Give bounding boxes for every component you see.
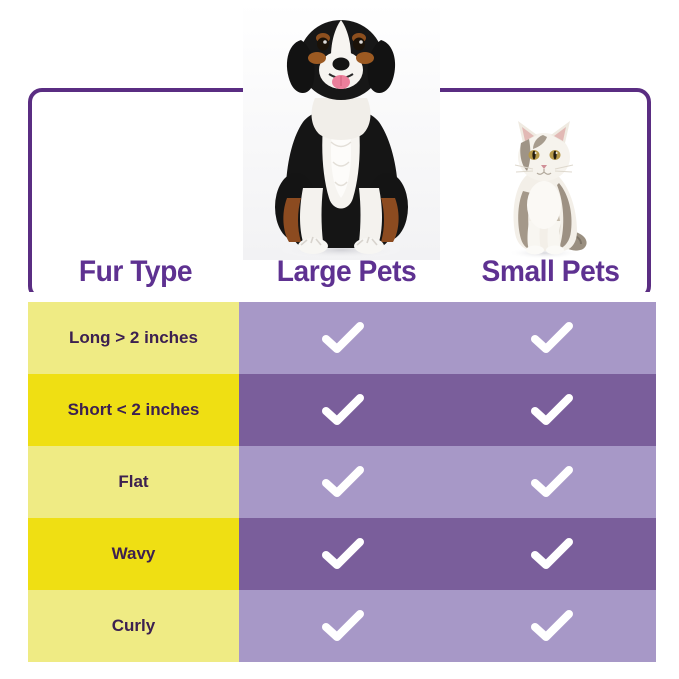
table-row: Wavy: [28, 518, 656, 590]
checkmark-icon: [530, 465, 574, 499]
checkmark-icon: [321, 393, 365, 427]
table-header-row: Fur Type Large Pets Small Pets: [32, 246, 647, 298]
table-row: Long > 2 inches: [28, 302, 656, 374]
cell-long-small-pets: [448, 302, 657, 374]
cell-flat-small-pets: [448, 446, 657, 518]
comparison-table-body: Long > 2 inches Short < 2 inches: [28, 302, 656, 662]
row-label-flat: Flat: [28, 446, 239, 518]
checkmark-icon: [530, 609, 574, 643]
checkmark-icon: [321, 465, 365, 499]
table-row: Curly: [28, 590, 656, 662]
cell-long-large-pets: [239, 302, 448, 374]
table-row: Short < 2 inches: [28, 374, 656, 446]
checkmark-icon: [530, 537, 574, 571]
cell-short-small-pets: [448, 374, 657, 446]
checkmark-icon: [321, 609, 365, 643]
row-label-curly: Curly: [28, 590, 239, 662]
cell-short-large-pets: [239, 374, 448, 446]
row-label-wavy: Wavy: [28, 518, 239, 590]
header-small-pets: Small Pets: [460, 255, 641, 289]
cell-flat-large-pets: [239, 446, 448, 518]
cell-wavy-large-pets: [239, 518, 448, 590]
checkmark-icon: [530, 393, 574, 427]
header-fur-type: Fur Type: [38, 255, 233, 289]
cell-curly-small-pets: [448, 590, 657, 662]
cell-wavy-small-pets: [448, 518, 657, 590]
cell-curly-large-pets: [239, 590, 448, 662]
checkmark-icon: [530, 321, 574, 355]
checkmark-icon: [321, 537, 365, 571]
checkmark-icon: [321, 321, 365, 355]
header-large-pets: Large Pets: [245, 255, 447, 289]
table-row: Flat: [28, 446, 656, 518]
row-label-short: Short < 2 inches: [28, 374, 239, 446]
comparison-chart: Fur Type Large Pets Small Pets Long > 2 …: [0, 0, 679, 679]
row-label-long: Long > 2 inches: [28, 302, 239, 374]
